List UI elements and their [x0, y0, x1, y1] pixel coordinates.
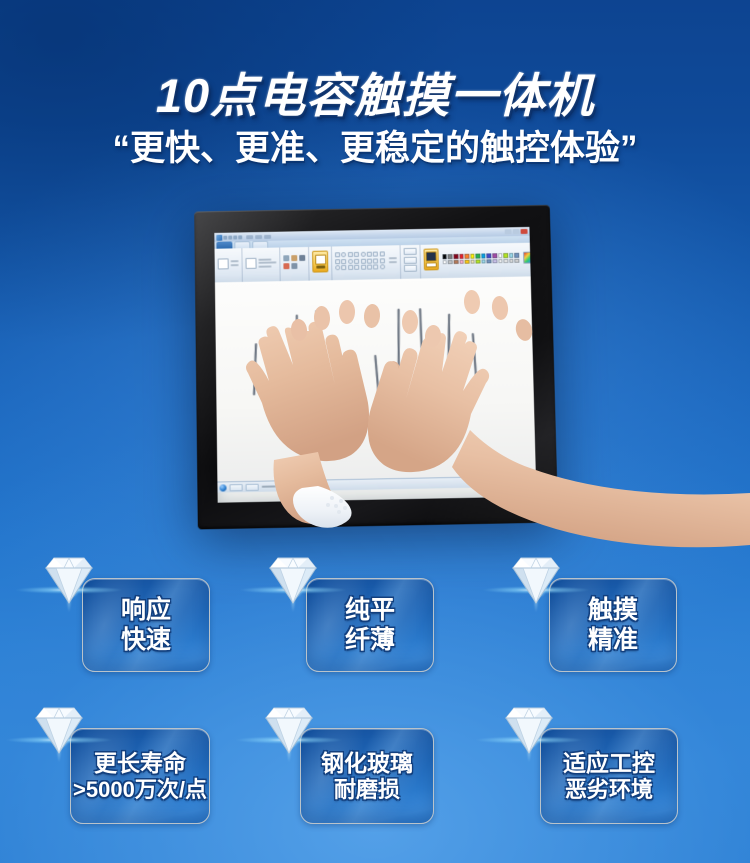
- maximize-button[interactable]: [513, 229, 520, 234]
- outline-label: [389, 257, 397, 259]
- feature-line-1: 响应: [121, 595, 171, 626]
- diamond-icon: [38, 554, 100, 610]
- crop-label: [258, 258, 271, 260]
- feature-line-1: 更长寿命: [94, 749, 186, 777]
- feature-line-2: >5000万次/点: [73, 777, 207, 804]
- feature-line-2: 耐磨损: [334, 777, 400, 804]
- ink-stroke: [253, 343, 256, 395]
- touch-monitor-photo: [194, 205, 558, 530]
- feature-line-1: 钢化玻璃: [321, 749, 413, 777]
- fill-label: [389, 261, 397, 263]
- feature-line-2: 恶劣环境: [565, 777, 653, 804]
- ribbon-group-size: [400, 245, 421, 279]
- color-palette[interactable]: [442, 253, 519, 265]
- ink-stroke: [272, 327, 277, 395]
- feature-line-2: 快速: [121, 625, 171, 656]
- feature-badge[interactable]: 更长寿命 >5000万次/点: [70, 728, 208, 822]
- paint-app-icon: [216, 234, 222, 240]
- poster-subtitle: “更快、更准、更稳定的触控体验”: [0, 120, 750, 171]
- feature-badge[interactable]: 触摸 精准: [549, 578, 675, 670]
- color1-color2-swatches[interactable]: [423, 248, 438, 270]
- diamond-icon: [258, 704, 320, 760]
- taskbar-item[interactable]: [246, 483, 259, 490]
- windows-orb-icon[interactable]: [219, 484, 226, 491]
- ink-stroke: [472, 333, 478, 389]
- eraser-icon[interactable]: [283, 263, 289, 269]
- feature-line-1: 适应工控: [563, 749, 655, 777]
- diamond-icon: [498, 704, 560, 760]
- ink-stroke: [374, 355, 380, 401]
- diamond-icon: [505, 554, 567, 610]
- ink-stroke: [339, 356, 343, 402]
- ribbon-group-shapes: [332, 245, 401, 280]
- brushes-button[interactable]: [312, 251, 328, 273]
- poster-title: 10点电容触摸一体机: [0, 57, 750, 126]
- feature-badge[interactable]: 适应工控 恶劣环境: [540, 728, 676, 822]
- fill-icon[interactable]: [291, 255, 297, 261]
- select-icon[interactable]: [245, 257, 256, 268]
- ink-stroke: [315, 310, 319, 392]
- paste-icon[interactable]: [218, 258, 229, 269]
- monitor-screen: [214, 227, 536, 503]
- ribbon-group-clipboard: [215, 248, 243, 282]
- redo-icon[interactable]: [233, 235, 237, 239]
- feature-badge[interactable]: 纯平 纤薄: [306, 578, 432, 670]
- rotate-label: [259, 265, 272, 267]
- paint-quick-access-toolbar: [214, 233, 271, 240]
- ink-stroke: [296, 315, 298, 393]
- pencil-icon[interactable]: [283, 255, 289, 261]
- product-poster: 10点电容触摸一体机 “更快、更准、更稳定的触控体验”: [0, 0, 750, 863]
- diamond-icon: [262, 554, 324, 610]
- save-icon[interactable]: [223, 235, 227, 239]
- cut-label: [231, 260, 239, 262]
- ink-stroke: [447, 314, 449, 388]
- feature-line-1: 纯平: [345, 595, 395, 626]
- ribbon-group-image: [242, 247, 280, 281]
- ink-stroke: [419, 308, 424, 388]
- close-button[interactable]: [521, 229, 528, 234]
- feature-line-2: 纤薄: [345, 625, 395, 656]
- feature-line-2: 精准: [588, 625, 638, 656]
- taskbar-item[interactable]: [229, 484, 242, 491]
- text-icon[interactable]: [299, 255, 305, 261]
- shape-gallery[interactable]: [335, 252, 385, 271]
- undo-icon[interactable]: [228, 235, 232, 239]
- minimize-button[interactable]: [505, 229, 512, 234]
- size-button[interactable]: [403, 248, 416, 272]
- diamond-icon: [28, 704, 90, 760]
- chevron-down-icon[interactable]: [238, 235, 242, 239]
- copy-label: [231, 264, 239, 266]
- ribbon-group-brushes: [309, 247, 332, 281]
- resize-label: [258, 261, 276, 263]
- feature-badge[interactable]: 钢化玻璃 耐磨损: [300, 728, 432, 822]
- paint-canvas[interactable]: [215, 276, 536, 492]
- ribbon-group-tools: [280, 247, 309, 281]
- feature-line-1: 触摸: [588, 595, 638, 626]
- paint-status-bar: [217, 475, 536, 492]
- feature-badge[interactable]: 响应 快速: [82, 578, 208, 670]
- window-controls: [505, 229, 530, 234]
- ink-stroke: [398, 309, 400, 391]
- status-text: [262, 485, 276, 487]
- magnifier-icon[interactable]: [299, 263, 305, 269]
- paint-window-caption: [246, 234, 271, 238]
- color-picker-icon[interactable]: [291, 263, 297, 269]
- ribbon-group-colors: [420, 243, 536, 279]
